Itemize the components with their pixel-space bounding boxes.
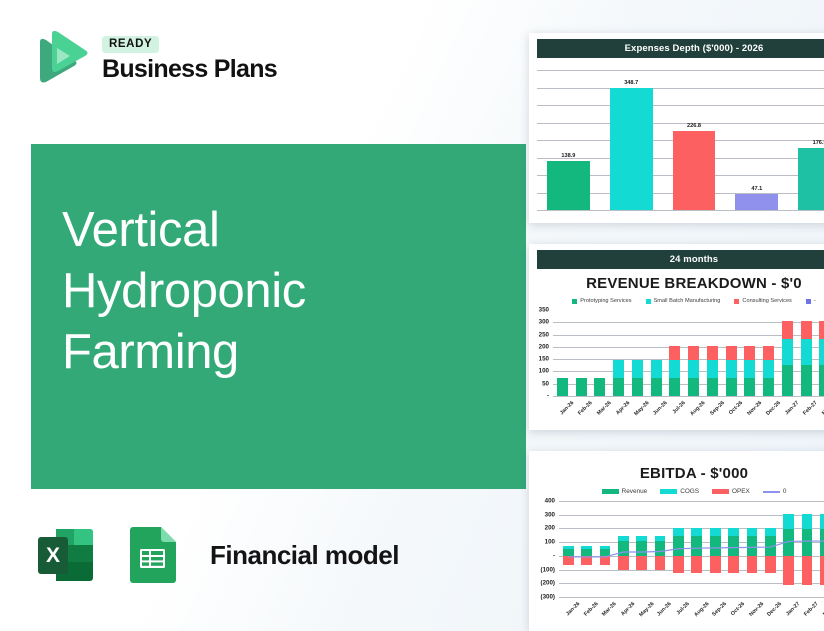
x-axis-tick-label: Feb-27 bbox=[803, 601, 820, 618]
x-axis-tick-label: Jun-26 bbox=[653, 400, 670, 417]
bar-slot bbox=[703, 310, 722, 396]
stack-segment bbox=[688, 360, 699, 377]
bar: 138.9 bbox=[547, 161, 590, 210]
stack-segment bbox=[726, 378, 737, 396]
y-axis-tick-label: 50 bbox=[542, 380, 553, 387]
legend-label: COGS bbox=[680, 488, 699, 495]
y-axis-tick-label: 200 bbox=[545, 525, 559, 532]
stack-segment bbox=[557, 378, 568, 396]
x-label-slot: Jan-26 bbox=[553, 396, 572, 406]
x-axis-labels: Jan-26Feb-26Mar-26Apr-26May-26Jun-26Jul-… bbox=[559, 597, 824, 607]
y-axis-tick-label: 100 bbox=[539, 368, 553, 375]
stacked-bar bbox=[688, 346, 699, 396]
bar-slot bbox=[553, 310, 572, 396]
stacked-bar bbox=[707, 346, 718, 396]
bar-value-label: 348.7 bbox=[624, 80, 638, 86]
x-axis-labels: Jan-26Feb-26Mar-26Apr-26May-26Jun-26Jul-… bbox=[553, 396, 824, 406]
legend-item: Small Batch Manufacturing bbox=[646, 298, 721, 304]
stacked-bar bbox=[744, 346, 755, 396]
page-title: Vertical Hydroponic Farming bbox=[62, 200, 306, 383]
y-axis-tick-label: 200 bbox=[539, 343, 553, 350]
stack-segment bbox=[782, 321, 793, 339]
stack-segment bbox=[801, 365, 812, 396]
legend-label: - bbox=[814, 298, 816, 304]
x-axis-tick-label: Dec-26 bbox=[765, 400, 782, 417]
bar-value-label: 47.1 bbox=[751, 186, 762, 192]
stack-segment bbox=[594, 378, 605, 396]
bar-slot bbox=[722, 310, 741, 396]
legend-label: Small Batch Manufacturing bbox=[654, 298, 721, 304]
y-axis-tick-label: (200) bbox=[541, 580, 559, 587]
bar-group bbox=[553, 310, 824, 396]
bar-slot: 138.9 bbox=[537, 70, 600, 210]
stacked-bar bbox=[632, 360, 643, 396]
stack-segment bbox=[782, 365, 793, 396]
expenses-chart-banner: Expenses Depth ($'000) - 2026 bbox=[537, 39, 824, 58]
stack-segment bbox=[819, 321, 824, 339]
legend-item: OPEX bbox=[712, 488, 750, 495]
bar-slot: 47.1 bbox=[725, 70, 788, 210]
bar-slot bbox=[684, 310, 703, 396]
legend-item: COGS bbox=[660, 488, 699, 495]
bar-slot bbox=[778, 310, 797, 396]
bar-value-label: 176.5 bbox=[813, 140, 824, 146]
x-axis-tick-label: Oct-26 bbox=[730, 601, 746, 617]
legend-label: Revenue bbox=[622, 488, 648, 495]
ready-badge: READY bbox=[102, 36, 159, 54]
stack-segment bbox=[801, 339, 812, 365]
chart-card-revenue[interactable]: 24 months REVENUE BREAKDOWN - $'0 Protot… bbox=[529, 244, 824, 430]
bar: 348.7 bbox=[610, 88, 653, 210]
stack-segment bbox=[744, 360, 755, 377]
y-axis-tick-label: 350 bbox=[539, 307, 553, 314]
stack-segment bbox=[819, 339, 824, 365]
stacked-bar bbox=[782, 321, 793, 396]
bar-group: 138.9348.7226.847.1176.5 bbox=[537, 70, 824, 210]
x-axis-tick-label: Jan-27 bbox=[785, 601, 801, 617]
stack-segment bbox=[763, 346, 774, 361]
x-axis-tick-label: Feb-27 bbox=[803, 400, 820, 417]
revenue-chart-banner: 24 months bbox=[537, 250, 824, 269]
legend-label: 0 bbox=[783, 488, 787, 495]
stacked-bar bbox=[669, 346, 680, 396]
stack-segment bbox=[632, 378, 643, 396]
legend-swatch bbox=[646, 299, 651, 304]
x-axis-tick-label: Aug-26 bbox=[690, 400, 707, 417]
x-axis-tick-label: May-26 bbox=[634, 400, 651, 417]
stack-segment bbox=[707, 346, 718, 361]
revenue-chart-title: REVENUE BREAKDOWN - $'0 bbox=[529, 275, 824, 292]
bar: 47.1 bbox=[735, 194, 778, 210]
stack-segment bbox=[651, 360, 662, 377]
stack-segment bbox=[801, 321, 812, 339]
legend-label: OPEX bbox=[732, 488, 750, 495]
stacked-bar bbox=[819, 321, 824, 396]
bar-slot: 176.5 bbox=[788, 70, 824, 210]
stack-segment bbox=[744, 378, 755, 396]
stack-segment bbox=[688, 346, 699, 361]
expenses-plot-area: 138.9348.7226.847.1176.5 bbox=[537, 70, 824, 210]
revenue-plot-area: 35030025020015010050-Jan-26Feb-26Mar-26A… bbox=[553, 310, 824, 396]
legend-label: Consulting Services bbox=[742, 298, 791, 304]
x-axis-tick-label: Jan-26 bbox=[565, 601, 581, 617]
file-format-row: X Financial model bbox=[32, 521, 399, 589]
x-axis-tick-label: Nov-26 bbox=[746, 400, 763, 417]
y-axis-tick-label: 250 bbox=[539, 331, 553, 338]
stack-segment bbox=[763, 378, 774, 396]
x-axis-tick-label: Jul-26 bbox=[675, 601, 690, 616]
x-axis-tick-label: Aug-26 bbox=[693, 601, 710, 618]
y-axis-tick-label: (300) bbox=[541, 594, 559, 601]
x-axis-tick-label: Apr-26 bbox=[615, 400, 631, 416]
x-axis-tick-label: Feb-26 bbox=[583, 601, 600, 618]
stack-segment bbox=[613, 360, 624, 377]
revenue-chart-legend: Prototyping ServicesSmall Batch Manufact… bbox=[529, 298, 824, 304]
stack-segment bbox=[707, 378, 718, 396]
stacked-bar bbox=[576, 378, 587, 396]
stack-segment bbox=[669, 346, 680, 361]
bar-slot bbox=[741, 310, 760, 396]
ebitda-plot-area: 400300200100-(100)(200)(300)Jan-26Feb-26… bbox=[559, 501, 824, 597]
y-axis-tick-label: 300 bbox=[545, 511, 559, 518]
x-axis-tick-label: Sep-26 bbox=[709, 400, 726, 417]
legend-swatch bbox=[712, 489, 729, 494]
y-axis-tick-label: 100 bbox=[545, 539, 559, 546]
x-axis-tick-label: Apr-26 bbox=[620, 601, 636, 617]
x-axis-tick-label: Jan-27 bbox=[784, 400, 800, 416]
brand-logo-block: READY Business Plans bbox=[28, 28, 277, 90]
x-axis-tick-label: Jun-26 bbox=[656, 601, 673, 618]
bar: 176.5 bbox=[798, 148, 824, 210]
stack-segment bbox=[744, 346, 755, 361]
legend-swatch bbox=[763, 491, 780, 493]
x-label-slot: Jan-26 bbox=[559, 597, 577, 607]
y-axis-tick-label: 300 bbox=[539, 319, 553, 326]
x-axis-tick-label: Mar-26 bbox=[596, 400, 613, 417]
stacked-bar bbox=[801, 321, 812, 396]
bar-slot bbox=[666, 310, 685, 396]
svg-text:X: X bbox=[46, 544, 60, 567]
x-axis-tick-label: Nov-26 bbox=[748, 601, 765, 618]
stack-segment bbox=[576, 378, 587, 396]
y-axis-tick-label: 400 bbox=[545, 498, 559, 505]
stack-segment bbox=[688, 378, 699, 396]
legend-swatch bbox=[602, 489, 619, 494]
bar-slot bbox=[816, 310, 824, 396]
y-axis-tick-label: 150 bbox=[539, 356, 553, 363]
x-axis-tick-label: Dec-26 bbox=[767, 601, 784, 618]
x-axis-tick-label: Jan-26 bbox=[559, 400, 575, 416]
x-axis-tick-label: May-26 bbox=[638, 601, 655, 618]
legend-swatch bbox=[806, 299, 811, 304]
stack-segment bbox=[632, 360, 643, 377]
bar-slot bbox=[591, 310, 610, 396]
legend-label: Prototyping Services bbox=[580, 298, 631, 304]
google-sheets-icon bbox=[118, 521, 186, 589]
legend-swatch bbox=[660, 489, 677, 494]
chart-card-expenses[interactable]: Expenses Depth ($'000) - 2026 138.9348.7… bbox=[529, 33, 824, 223]
play-logo-icon bbox=[28, 28, 90, 90]
ebitda-chart-title: EBITDA - $'000 bbox=[529, 465, 824, 482]
legend-item: Revenue bbox=[602, 488, 648, 495]
stacked-bar bbox=[557, 378, 568, 396]
bar-slot bbox=[759, 310, 778, 396]
x-axis-tick-label: Sep-26 bbox=[712, 601, 729, 618]
bar-slot bbox=[609, 310, 628, 396]
legend-swatch bbox=[572, 299, 577, 304]
x-label-slot: Aug-26 bbox=[684, 396, 703, 406]
stack-segment bbox=[726, 360, 737, 377]
stack-segment bbox=[669, 378, 680, 396]
bar-value-label: 138.9 bbox=[561, 153, 575, 159]
y-axis-tick-label: (100) bbox=[541, 566, 559, 573]
x-axis-tick-label: Mar-26 bbox=[601, 601, 618, 618]
legend-item: Consulting Services bbox=[734, 298, 791, 304]
x-axis-tick-label: Jul-26 bbox=[672, 400, 687, 415]
brand-text-block: READY Business Plans bbox=[102, 36, 277, 83]
stack-segment bbox=[819, 365, 824, 396]
bar-slot bbox=[797, 310, 816, 396]
stack-segment bbox=[707, 360, 718, 377]
stacked-bar bbox=[613, 360, 624, 396]
hero-panel: Vertical Hydroponic Farming bbox=[31, 144, 526, 489]
bar-slot: 348.7 bbox=[600, 70, 663, 210]
stacked-bar bbox=[594, 378, 605, 396]
stacked-bar bbox=[651, 360, 662, 396]
bar-value-label: 226.8 bbox=[687, 123, 701, 129]
stack-segment bbox=[726, 346, 737, 361]
stack-segment bbox=[613, 378, 624, 396]
stack-segment bbox=[782, 339, 793, 365]
ebitda-chart-legend: RevenueCOGSOPEX0 bbox=[529, 488, 824, 495]
bar-slot bbox=[647, 310, 666, 396]
excel-icon: X bbox=[32, 521, 100, 589]
legend-item: Prototyping Services bbox=[572, 298, 631, 304]
stacked-bar bbox=[726, 346, 737, 396]
ebitda-line-series bbox=[559, 501, 824, 597]
brand-name: Business Plans bbox=[102, 56, 277, 82]
footer-label: Financial model bbox=[210, 540, 399, 571]
x-axis-tick-label: Feb-26 bbox=[578, 400, 595, 417]
legend-item: 0 bbox=[763, 488, 787, 495]
bar-slot: 226.8 bbox=[663, 70, 726, 210]
chart-card-ebitda[interactable]: EBITDA - $'000 RevenueCOGSOPEX0 40030020… bbox=[529, 451, 824, 631]
stack-segment bbox=[763, 360, 774, 377]
x-axis-tick-label: Oct-26 bbox=[728, 400, 744, 416]
bar: 226.8 bbox=[673, 131, 716, 210]
bar-slot bbox=[572, 310, 591, 396]
presentation-cover-page: READY Business Plans Vertical Hydroponic… bbox=[0, 0, 824, 631]
legend-item: - bbox=[806, 298, 816, 304]
stack-segment bbox=[669, 360, 680, 377]
legend-swatch bbox=[734, 299, 739, 304]
gridline bbox=[537, 210, 824, 211]
stacked-bar bbox=[763, 346, 774, 396]
stack-segment bbox=[651, 378, 662, 396]
bar-slot bbox=[628, 310, 647, 396]
